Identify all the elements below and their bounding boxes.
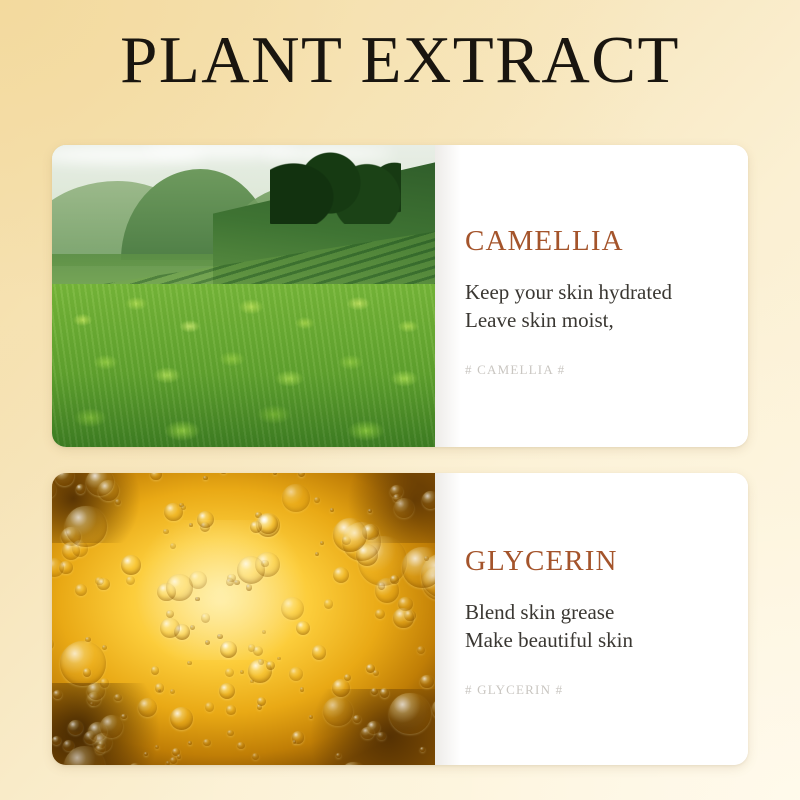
bubble-icon	[293, 740, 297, 744]
bubble-icon	[282, 484, 310, 512]
bubble-icon	[203, 739, 211, 747]
bubble-icon	[300, 687, 304, 691]
bubble-icon	[220, 641, 237, 658]
bubble-icon	[246, 584, 253, 591]
page-title: PLANT EXTRACT	[0, 27, 800, 94]
camellia-hashtag: # CAMELLIA #	[465, 362, 565, 378]
bubble-icon	[166, 761, 170, 765]
bubble-icon	[201, 613, 211, 623]
bubble-icon	[320, 541, 324, 545]
bubble-icon	[225, 668, 235, 678]
bubble-icon	[75, 584, 87, 596]
bubble-icon	[151, 666, 159, 674]
bubble-icon	[277, 657, 281, 661]
bubble-icon	[420, 747, 424, 751]
glycerin-text-panel: GLYCERIN Blend skin grease Make beautifu…	[435, 473, 748, 765]
bubble-icon	[166, 610, 174, 618]
glycerin-description: Blend skin grease Make beautiful skin	[465, 598, 633, 654]
bubble-icon	[121, 555, 140, 574]
description-line: Keep your skin hydrated	[465, 278, 672, 306]
ingredient-card-camellia[interactable]: CAMELLIA Keep your skin hydrated Leave s…	[52, 145, 748, 447]
bubble-icon	[266, 661, 275, 670]
bubble-icon	[170, 689, 175, 694]
oil-bubbles-illustration	[52, 473, 435, 765]
camellia-text-panel: CAMELLIA Keep your skin hydrated Leave s…	[435, 145, 748, 447]
bubble-icon	[298, 473, 305, 477]
bubble-icon	[150, 473, 162, 480]
bubble-icon	[177, 754, 182, 759]
bubble-icon	[170, 707, 193, 730]
bubble-icon	[237, 742, 245, 750]
bubble-icon	[417, 646, 425, 654]
bubble-icon	[375, 609, 385, 619]
bubble-icon	[226, 705, 235, 714]
bubble-icon	[98, 480, 119, 501]
bubble-icon	[424, 556, 429, 561]
bubble-icon	[115, 499, 121, 505]
bubble-icon	[273, 473, 277, 475]
bubble-icon	[333, 518, 367, 552]
bubble-icon	[166, 574, 192, 600]
bubble-icon	[163, 529, 168, 534]
bubble-icon	[250, 680, 254, 684]
bubble-icon	[333, 567, 349, 583]
glycerin-hashtag: # GLYCERIN #	[465, 682, 563, 698]
camellia-image	[52, 145, 435, 447]
bubble-icon	[257, 697, 266, 706]
bubble-icon	[144, 752, 148, 756]
bubble-icon	[187, 661, 192, 666]
ingredient-name-camellia: CAMELLIA	[465, 225, 624, 258]
bubble-icon	[389, 693, 430, 734]
bubble-icon	[227, 730, 234, 737]
bubble-icon	[312, 645, 326, 659]
bubble-icon	[240, 670, 245, 675]
camellia-description: Keep your skin hydrated Leave skin moist…	[465, 278, 672, 334]
bubble-icon	[188, 741, 192, 745]
bubble-icon	[195, 597, 199, 601]
bubble-icon	[217, 634, 222, 639]
bubble-icon	[420, 675, 433, 688]
bubble-icon	[380, 688, 389, 697]
bubble-icon	[361, 727, 374, 740]
bubble-icon	[160, 618, 180, 638]
bubble-icon	[170, 757, 177, 764]
bubble-icon	[190, 625, 195, 630]
bubble-icon	[250, 521, 262, 533]
bubble-icon	[114, 694, 122, 702]
bubble-icon	[76, 484, 86, 494]
bubble-icon	[126, 576, 135, 585]
bubble-icon	[205, 702, 214, 711]
bubble-icon	[100, 678, 110, 688]
ingredient-card-glycerin[interactable]: GLYCERIN Blend skin grease Make beautifu…	[52, 473, 748, 765]
glycerin-image	[52, 473, 435, 765]
bubble-icon	[219, 683, 235, 699]
bubble-icon	[220, 473, 226, 474]
bubble-icon	[289, 667, 303, 681]
bubble-icon	[97, 578, 109, 590]
bubble-icon	[324, 599, 334, 609]
description-line: Make beautiful skin	[465, 626, 633, 654]
bubble-icon	[296, 621, 310, 635]
bubble-icon	[262, 630, 266, 634]
bubble-icon	[52, 638, 54, 650]
bubble-icon	[65, 506, 106, 547]
ingredient-name-glycerin: GLYCERIN	[465, 545, 618, 578]
bubble-icon	[366, 664, 375, 673]
bubble-icon	[402, 547, 435, 587]
bubble-icon	[393, 608, 413, 628]
bubble-icon	[390, 575, 399, 584]
tea-plantation-illustration	[52, 145, 435, 447]
tree-cluster-icon	[270, 145, 400, 224]
description-line: Blend skin grease	[465, 598, 633, 626]
bubble-icon	[121, 714, 126, 719]
bubble-icon	[203, 476, 208, 481]
bubble-icon	[309, 715, 313, 719]
bubble-icon	[336, 753, 341, 758]
bubble-icon	[189, 523, 193, 527]
bubble-icon	[378, 582, 385, 589]
bubble-icon	[323, 697, 352, 726]
description-line: Leave skin moist,	[465, 306, 672, 334]
bubble-icon	[422, 491, 435, 509]
bubble-icon	[330, 508, 334, 512]
bubble-icon	[102, 645, 107, 650]
bubble-icon	[314, 497, 320, 503]
bubble-icon	[252, 753, 259, 760]
bubble-icon	[155, 683, 164, 692]
bubble-icon	[60, 641, 106, 687]
bubble-icon	[344, 674, 351, 681]
tea-leaves-foreground	[52, 284, 435, 447]
